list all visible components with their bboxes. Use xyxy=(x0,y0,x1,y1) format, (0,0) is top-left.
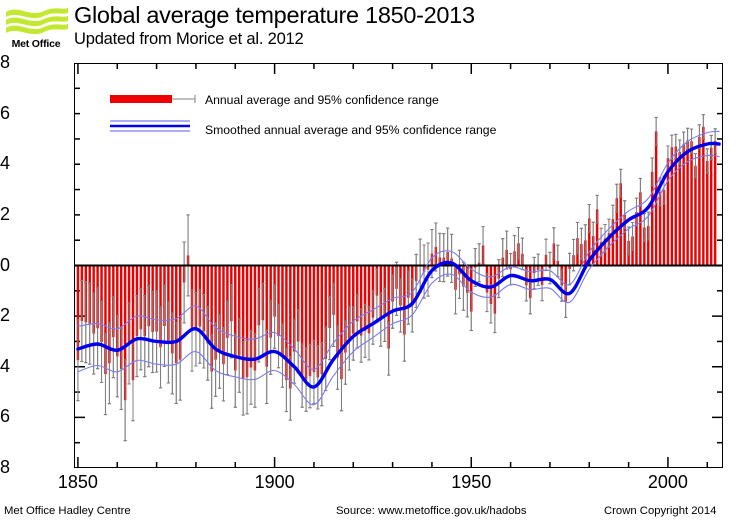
footer-center: Source: www.metoffice.gov.uk/hadobs xyxy=(336,505,526,517)
legend-item-label: Smoothed annual average and 95% confiden… xyxy=(205,123,496,137)
legend-item-label: Annual average and 95% confidence range xyxy=(205,93,439,107)
x-tick-label: 2000 xyxy=(628,472,708,493)
y-tick-label: 0.6 xyxy=(0,103,10,124)
x-tick-label: 1850 xyxy=(38,472,118,493)
footer-right: Crown Copyright 2014 xyxy=(604,505,716,517)
page-title: Global average temperature 1850-2013 xyxy=(74,2,475,29)
page-subtitle: Updated from Morice et al. 2012 xyxy=(74,30,304,49)
y-tick-label: 0.4 xyxy=(0,153,10,174)
met-office-logo-text: Met Office xyxy=(4,38,68,50)
chart-page: Met Office Global average temperature 18… xyxy=(0,0,738,525)
y-tick-label: -0.8 xyxy=(0,457,10,478)
y-tick-label: 0.0 xyxy=(0,255,10,276)
x-tick-label: 1950 xyxy=(431,472,511,493)
x-tick-label: 1900 xyxy=(235,472,315,493)
y-tick-label: -0.4 xyxy=(0,356,10,377)
footer-left: Met Office Hadley Centre xyxy=(4,505,131,517)
y-tick-label: -0.6 xyxy=(0,406,10,427)
y-tick-label: 0.8 xyxy=(0,52,10,73)
y-tick-label: 0.2 xyxy=(0,204,10,225)
y-tick-label: -0.2 xyxy=(0,305,10,326)
